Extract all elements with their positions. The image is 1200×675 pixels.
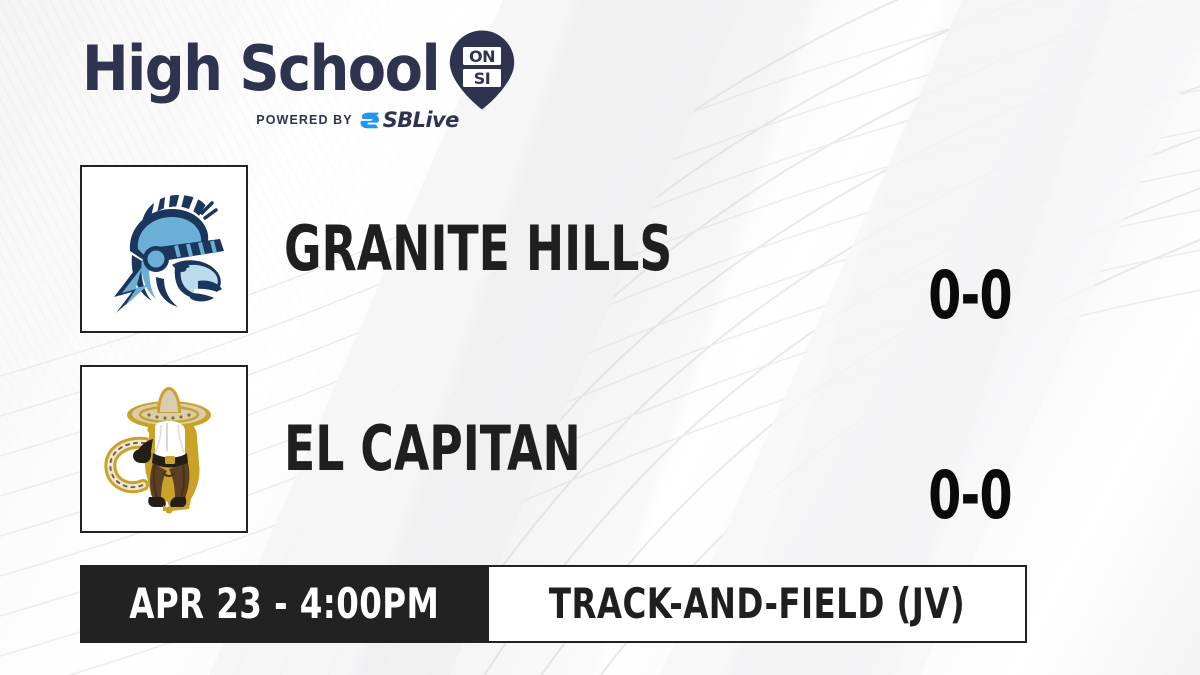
team-row: EL CAPITAN: [80, 365, 646, 533]
wordmark-text: High School: [82, 38, 439, 100]
team-row: GRANITE HILLS: [80, 165, 758, 333]
svg-text:SI: SI: [474, 69, 490, 88]
wordmark: High School ON SI: [82, 36, 515, 102]
team-score: 0-0: [906, 263, 1034, 329]
team-logo-box: [80, 365, 248, 533]
scoreboard-graphic: High School ON SI POWERED BY: [0, 0, 1200, 675]
sblive-s-icon: [360, 111, 380, 130]
powered-by-label: POWERED BY: [256, 113, 352, 127]
brand-header: High School ON SI POWERED BY: [82, 36, 515, 132]
game-datetime-block: APR 23 - 4:00PM: [80, 565, 489, 643]
sblive-text: SBLive: [383, 108, 459, 132]
powered-by-block: POWERED BY SBLive: [200, 108, 515, 132]
granite-hills-spartan-helmet-logo: [94, 179, 234, 319]
sblive-logo: SBLive: [360, 108, 459, 132]
team-logo-box: [80, 165, 248, 333]
team-score: 0-0: [906, 463, 1034, 529]
team-name: GRANITE HILLS: [284, 218, 672, 280]
svg-text:ON: ON: [469, 47, 495, 66]
el-capitan-vaquero-logo: [99, 379, 229, 519]
game-sport-block: TRACK-AND-FIELD (JV): [489, 565, 1027, 643]
game-info-bar: APR 23 - 4:00PM TRACK-AND-FIELD (JV): [80, 565, 1027, 643]
game-datetime-text: APR 23 - 4:00PM: [129, 583, 439, 625]
team-name: EL CAPITAN: [284, 418, 581, 480]
game-sport-text: TRACK-AND-FIELD (JV): [548, 583, 964, 625]
map-pin-icon: ON SI: [449, 30, 515, 110]
